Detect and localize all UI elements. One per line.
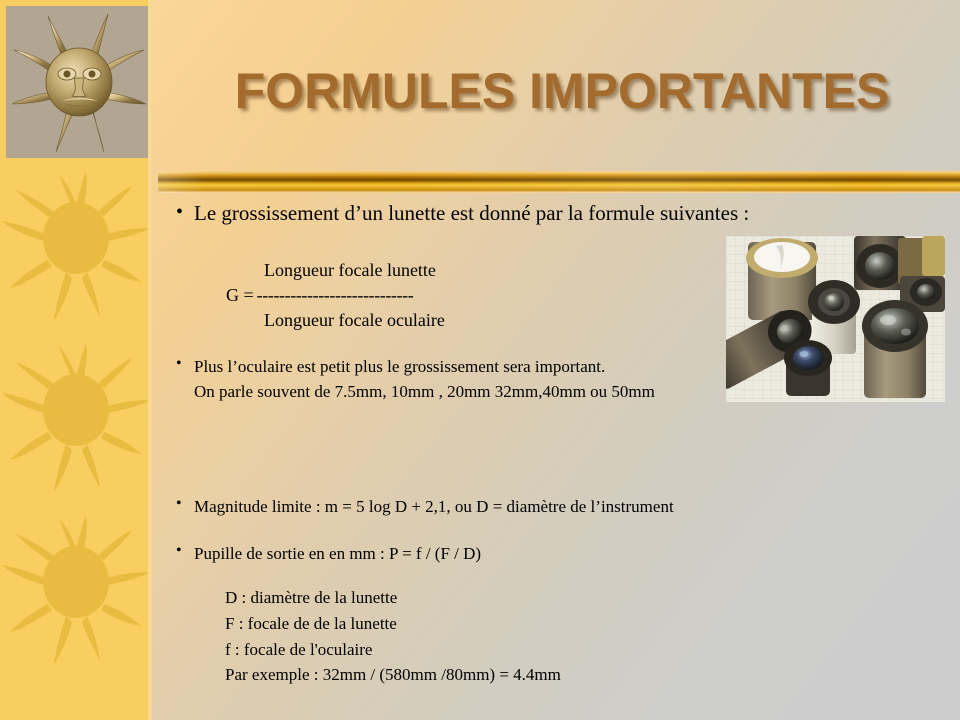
decorative-sun-icon xyxy=(2,168,150,338)
bullet-marker-icon: • xyxy=(176,495,194,512)
formula-numerator: Longueur focale lunette xyxy=(226,258,445,283)
magnification-formula: Longueur focale lunette G = ------------… xyxy=(226,258,445,332)
sun-face-logo-image xyxy=(6,6,152,158)
gold-divider-bar xyxy=(158,171,960,193)
decorative-sun-icon xyxy=(2,512,150,682)
formula-left-hand-side: G = xyxy=(226,283,257,308)
bullet-marker-icon: • xyxy=(176,542,194,559)
sidebar-edge-divider xyxy=(148,0,152,720)
bullet-marker-icon: • xyxy=(176,355,194,372)
bullet-text: Le grossissement d’un lunette est donné … xyxy=(194,200,749,226)
bullet-item-limiting-magnitude: • Magnitude limite : m = 5 log D + 2,1, … xyxy=(176,495,674,519)
bullet-text: Magnitude limite : m = 5 log D + 2,1, ou… xyxy=(194,495,674,519)
slide-sidebar xyxy=(0,0,152,720)
definitions-block: D : diamètre de la lunette F : focale de… xyxy=(225,585,561,688)
page-title: FORMULES IMPORTANTES xyxy=(172,62,952,120)
formula-denominator: Longueur focale oculaire xyxy=(226,308,445,333)
bullet-text: Plus l’oculaire est petit plus le grossi… xyxy=(194,355,655,404)
bullet-item-eyepiece-sizes: • Plus l’oculaire est petit plus le gros… xyxy=(176,355,655,404)
bullet-text: Pupille de sortie en en mm : P = f / (F … xyxy=(194,542,481,566)
presentation-slide: FORMULES IMPORTANTES • Le grossissement … xyxy=(0,0,960,720)
bullet-item-magnification-intro: • Le grossissement d’un lunette est donn… xyxy=(176,200,749,226)
bullet-item-exit-pupil: • Pupille de sortie en en mm : P = f / (… xyxy=(176,542,481,566)
decorative-sun-icon xyxy=(2,340,150,510)
formula-fraction-bar: ---------------------------- xyxy=(257,283,414,308)
telescope-eyepieces-photo xyxy=(726,236,945,402)
bullet-marker-icon: • xyxy=(176,200,194,222)
